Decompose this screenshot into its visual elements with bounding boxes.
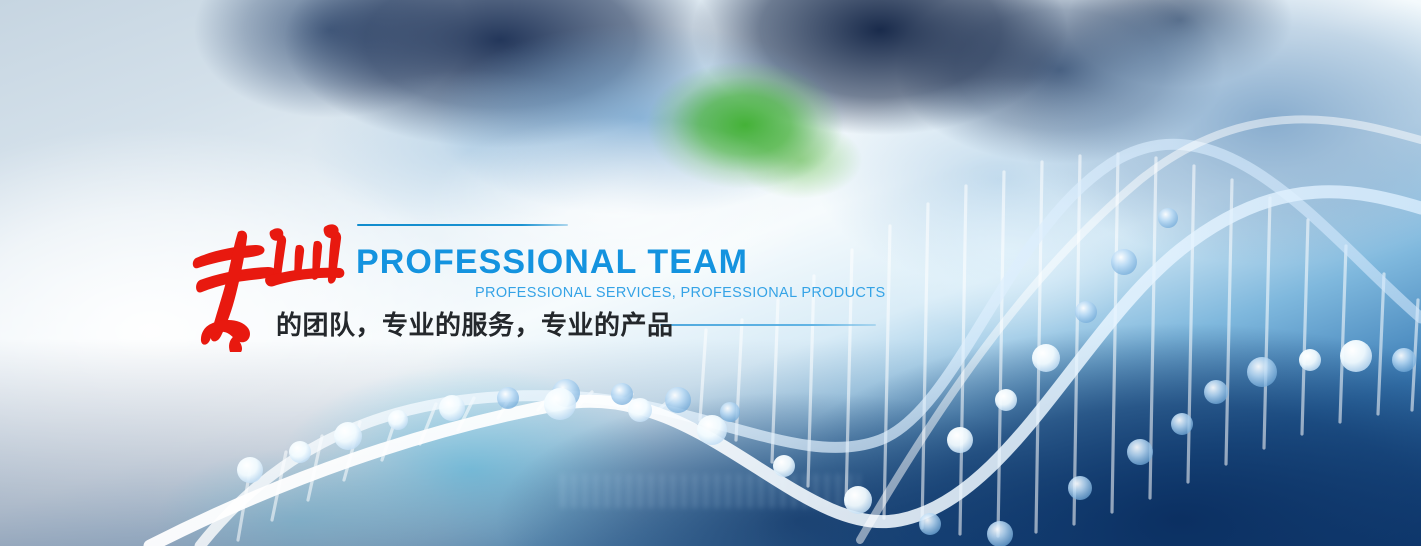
page-title: PROFESSIONAL TEAM [356, 243, 748, 282]
professional-team-hero-banner: PROFESSIONAL TEAM PROFESSIONAL SERVICES,… [0, 0, 1421, 546]
chinese-tagline: 的团队，专业的服务，专业的产品 [276, 305, 674, 342]
divider-line-bottom [660, 324, 876, 326]
page-subtitle: PROFESSIONAL SERVICES, PROFESSIONAL PROD… [475, 285, 885, 301]
divider-line-top [357, 224, 568, 226]
background-watermark-text [560, 474, 860, 508]
